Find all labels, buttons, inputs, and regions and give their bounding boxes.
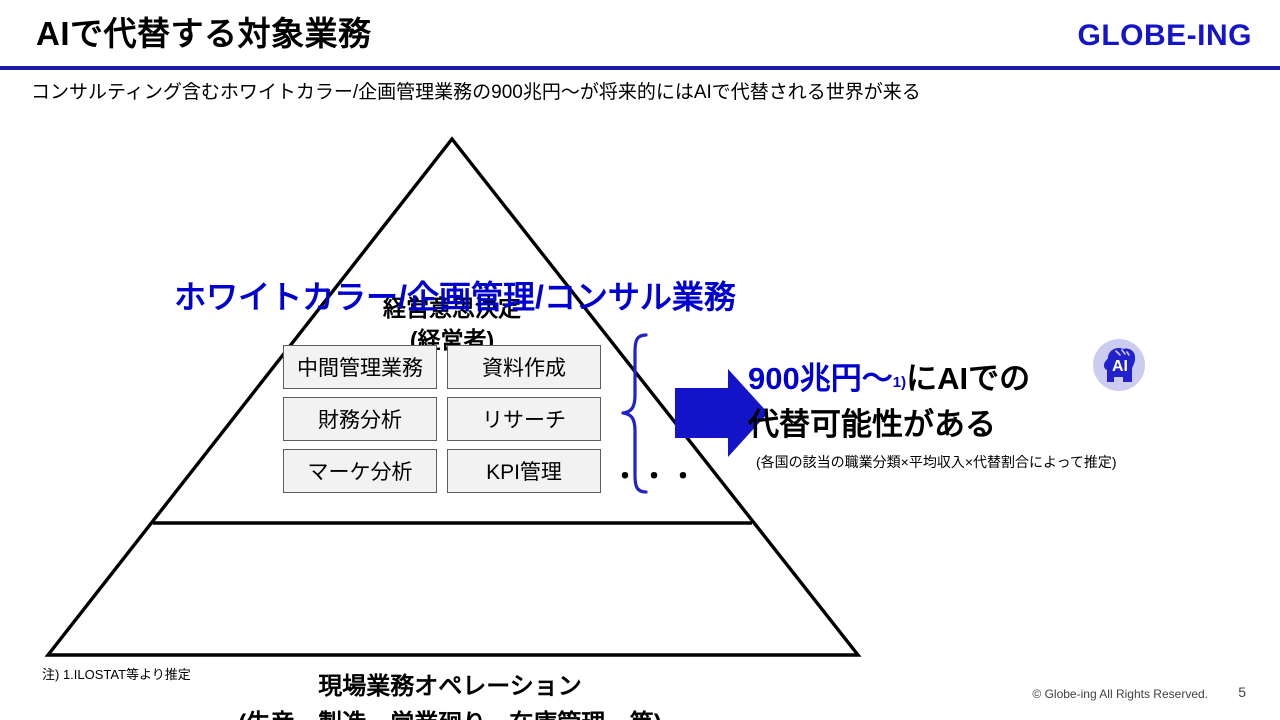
copyright-text: © Globe-ing All Rights Reserved. [1032, 687, 1208, 701]
callout-footnote-marker: 1) [893, 374, 906, 391]
task-box[interactable]: マーケ分析 [283, 449, 437, 493]
task-box[interactable]: 資料作成 [447, 345, 601, 389]
task-box[interactable]: 財務分析 [283, 397, 437, 441]
footnote-text: 注) 1.ILOSTAT等より推定 [42, 664, 191, 683]
ai-brain-icon: AI [1090, 336, 1148, 394]
callout-note: (各国の該当の職業分類×平均収入×代替割合によって推定) [756, 452, 1198, 472]
task-box[interactable]: リサーチ [447, 397, 601, 441]
slide-canvas: AIで代替する対象業務 GLOBE-ING コンサルティング含むホワイトカラー/… [0, 0, 1280, 720]
callout-line-1-rest: にAIでの [906, 361, 1030, 396]
page-number: 5 [1238, 684, 1246, 700]
task-box[interactable]: KPI管理 [447, 449, 601, 493]
svg-text:AI: AI [1112, 358, 1128, 375]
page-subtitle: コンサルティング含むホワイトカラー/企画管理業務の900兆円〜が将来的にはAIで… [31, 80, 921, 106]
page-title: AIで代替する対象業務 [36, 14, 372, 54]
task-box[interactable]: 中間管理業務 [283, 345, 437, 389]
bottom-tier-line2: (生産、製造、営業廻り、在庫管理・・・等) [150, 705, 750, 720]
header-divider [0, 66, 1280, 70]
bottom-tier-line1: 現場業務オペレーション [150, 668, 750, 705]
callout-line-2: 代替可能性がある [748, 404, 1198, 446]
callout-amount: 900兆円〜 [748, 361, 893, 396]
pyramid-middle-tier-heading: ホワイトカラー/企画管理/コンサル業務 [60, 277, 850, 317]
brand-logo: GLOBE-ING [1078, 19, 1253, 53]
pyramid-bottom-tier-label: 現場業務オペレーション (生産、製造、営業廻り、在庫管理・・・等) [150, 668, 750, 720]
task-box-grid: 中間管理業務 資料作成 財務分析 リサーチ マーケ分析 KPI管理 [283, 345, 601, 493]
task-ellipsis: ・・・ [612, 456, 699, 493]
